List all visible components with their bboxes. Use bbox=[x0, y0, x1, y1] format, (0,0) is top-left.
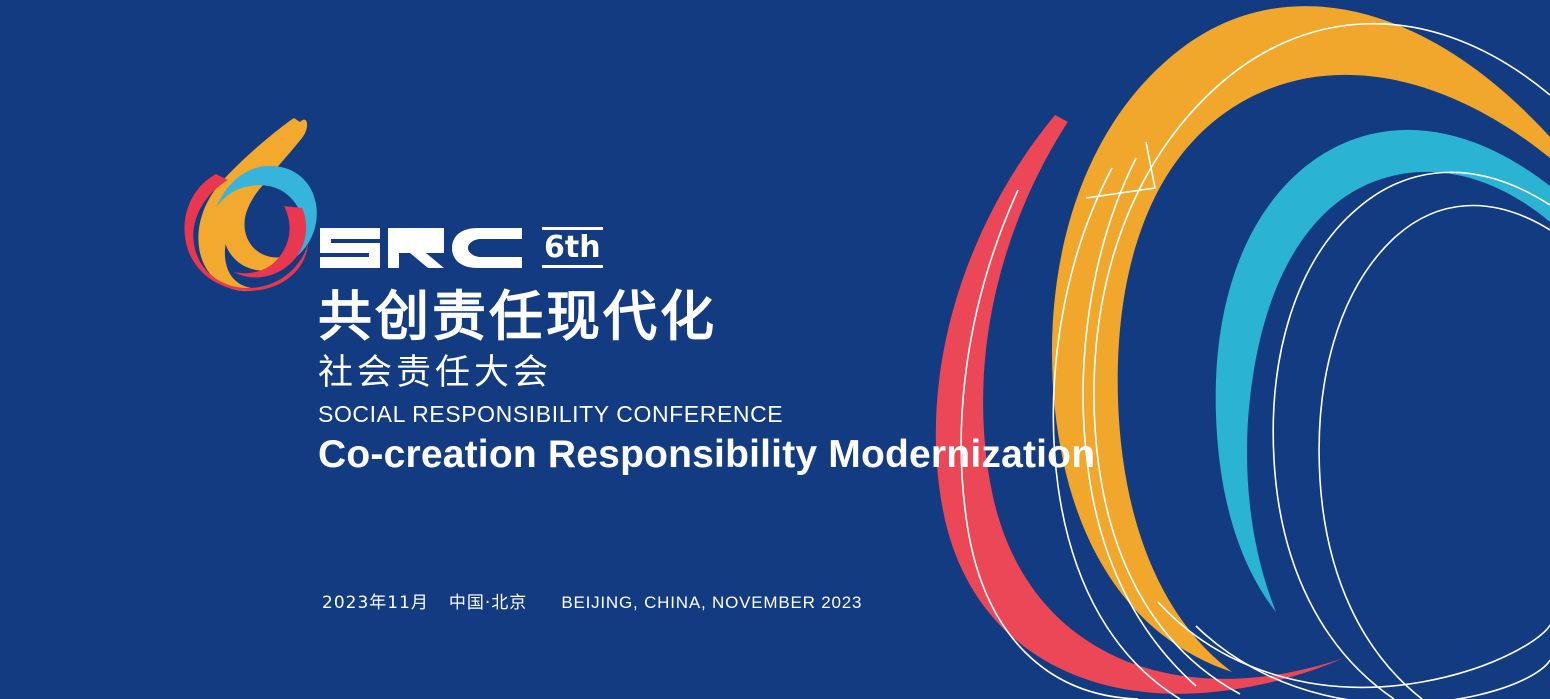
footer-cn-location: 中国·北京 bbox=[449, 588, 527, 613]
chinese-subtitle: 社会责任大会 bbox=[318, 352, 1148, 396]
footer-cn-date: 2023年11月 bbox=[322, 588, 429, 613]
english-main-title: Co-creation Responsibility Modernization bbox=[318, 433, 1148, 478]
poster-canvas: 6th 共创责任现代化 社会责任大会 SOCIAL RESPONSIBILITY… bbox=[0, 0, 1550, 699]
wordmark-row: 6th bbox=[318, 204, 603, 276]
footer-en-line: BEIJING, CHINA, NOVEMBER 2023 bbox=[561, 593, 862, 613]
footer-date-location: 2023年11月 中国·北京 BEIJING, CHINA, NOVEMBER … bbox=[322, 588, 862, 613]
title-block: 共创责任现代化 社会责任大会 SOCIAL RESPONSIBILITY CON… bbox=[318, 288, 1148, 478]
edition-badge: 6th bbox=[542, 227, 603, 268]
chinese-main-title: 共创责任现代化 bbox=[318, 288, 1148, 346]
english-kicker: SOCIAL RESPONSIBILITY CONFERENCE bbox=[318, 401, 1148, 429]
brand-lockup: 6th 共创责任现代化 社会责任大会 SOCIAL RESPONSIBILITY… bbox=[176, 92, 996, 492]
src-wordmark bbox=[318, 220, 524, 276]
six-swirl-logo bbox=[176, 92, 326, 292]
